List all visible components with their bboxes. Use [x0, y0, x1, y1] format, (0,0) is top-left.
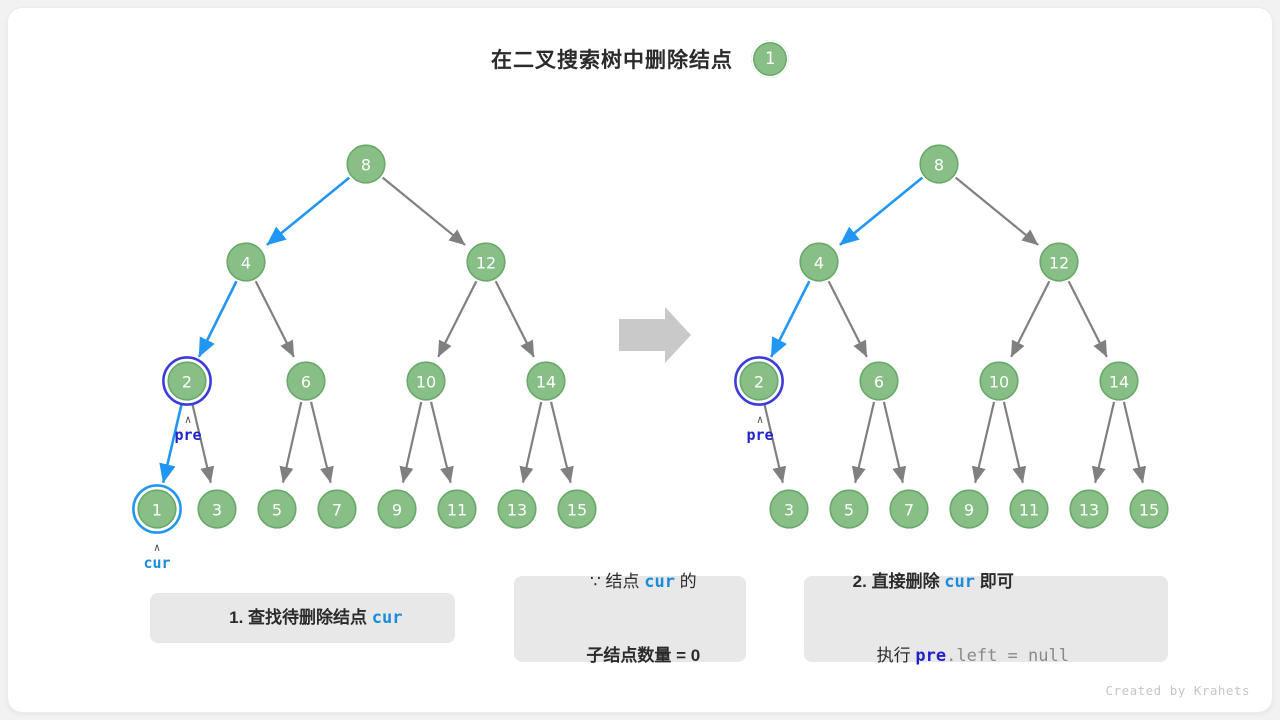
tree-node-label: 11 [447, 501, 467, 520]
tree-edge [283, 402, 301, 483]
tree-edge [383, 178, 465, 245]
diagram-canvas: 在二叉搜索树中删除结点 1 84122610141357911131584122… [8, 8, 1272, 712]
caption3-line2-prefix: 执行 [877, 646, 916, 665]
pointer-label: pre [174, 426, 201, 444]
tree-node-3[interactable]: 3 [197, 489, 237, 529]
tree-node-2[interactable]: 2 [735, 357, 782, 404]
tree-node-label: 9 [964, 501, 974, 520]
tree-node-12[interactable]: 12 [1039, 242, 1079, 282]
caption2-code-cur: cur [644, 572, 675, 592]
tree-node-15[interactable]: 15 [1129, 489, 1169, 529]
caption1-code-cur: cur [372, 608, 403, 628]
tree-node-label: 6 [301, 373, 311, 392]
tree-node-10[interactable]: 10 [979, 361, 1019, 401]
caption2-line2: 子结点数量 = 0 [586, 646, 700, 665]
tree-node-label: 5 [272, 501, 282, 520]
tree-node-label: 2 [754, 373, 764, 392]
tree-node-label: 4 [241, 254, 251, 273]
tree-edge [975, 402, 994, 483]
caption3-code-cur: cur [944, 572, 975, 592]
tree-node-3[interactable]: 3 [769, 489, 809, 529]
tree-node-11[interactable]: 11 [437, 489, 477, 529]
tree-node-label: 8 [361, 156, 371, 175]
tree-edge [496, 281, 534, 357]
tree-node-4[interactable]: 4 [799, 242, 839, 282]
tree-edge [956, 178, 1038, 245]
tree-node-label: 7 [332, 501, 342, 520]
tree-node-label: 3 [212, 501, 222, 520]
caption-step-1: 1. 查找待删除结点 cur [150, 593, 455, 643]
tree-node-label: 10 [989, 373, 1009, 392]
tree-node-label: 4 [814, 254, 824, 273]
tree-node-12[interactable]: 12 [466, 242, 506, 282]
pointer-label: pre [746, 426, 773, 444]
tree-node-10[interactable]: 10 [406, 361, 446, 401]
tree-node-11[interactable]: 11 [1009, 489, 1049, 529]
tree-node-9[interactable]: 9 [377, 489, 417, 529]
right-block-arrow [619, 307, 691, 363]
caption2-line1-prefix: ∵ 结点 [590, 572, 644, 591]
tree-edge [1004, 402, 1023, 483]
tree-edge [256, 281, 294, 357]
tree-edge [523, 402, 541, 483]
tree-node-14[interactable]: 14 [1099, 361, 1139, 401]
tree-node-5[interactable]: 5 [257, 489, 297, 529]
tree-node-label: 1 [152, 501, 162, 520]
caption3-line1-prefix: 2. 直接删除 [853, 572, 945, 591]
tree-node-7[interactable]: 7 [317, 489, 357, 529]
tree-node-1[interactable]: 1 [133, 485, 180, 532]
tree-node-label: 2 [182, 373, 192, 392]
caption-step-2: 2. 直接删除 cur 即可 执行 pre.left = null [804, 576, 1168, 662]
tree-node-5[interactable]: 5 [829, 489, 869, 529]
tree-node-label: 5 [844, 501, 854, 520]
tree-node-label: 9 [392, 501, 402, 520]
pointer-caret-icon: ∧ [757, 413, 764, 426]
caption3-line1-suffix: 即可 [975, 572, 1014, 591]
tree-node-label: 13 [1079, 501, 1099, 520]
tree-node-label: 15 [567, 501, 587, 520]
tree-node-2[interactable]: 2 [163, 357, 210, 404]
caption-reason: ∵ 结点 cur 的 子结点数量 = 0 [514, 576, 746, 662]
tree-edge [267, 178, 349, 245]
tree-edge [840, 178, 922, 245]
tree-node-label: 3 [784, 501, 794, 520]
tree-node-label: 12 [1049, 254, 1069, 273]
caption2-line1-suffix: 的 [675, 572, 697, 591]
tree-edge [551, 402, 571, 483]
tree-edge [1095, 402, 1114, 483]
tree-node-7[interactable]: 7 [889, 489, 929, 529]
tree-node-label: 14 [1109, 373, 1129, 392]
tree-edge [829, 281, 867, 357]
tree-edge [311, 402, 331, 483]
caption1-text: 1. 查找待删除结点 [229, 608, 372, 627]
tree-node-9[interactable]: 9 [949, 489, 989, 529]
tree-node-label: 6 [874, 373, 884, 392]
tree-node-8[interactable]: 8 [346, 144, 386, 184]
tree-node-label: 8 [934, 156, 944, 175]
footer-credit: Created by Krahets [1106, 683, 1250, 698]
tree-edge [199, 281, 236, 357]
tree-edge [431, 402, 451, 483]
tree-node-label: 11 [1019, 501, 1039, 520]
tree-edge [1124, 402, 1143, 483]
pointer-caret-icon: ∧ [154, 541, 161, 554]
tree-edge [403, 402, 421, 483]
tree-node-label: 14 [536, 373, 556, 392]
pointer-caret-icon: ∧ [185, 413, 192, 426]
tree-edge [884, 402, 903, 483]
caption3-code-pre: pre [915, 646, 946, 666]
caption3-line2-rest: .left = null [946, 646, 1069, 666]
tree-node-label: 15 [1139, 501, 1159, 520]
tree-node-label: 12 [476, 254, 496, 273]
tree-edge [438, 281, 476, 357]
tree-node-4[interactable]: 4 [226, 242, 266, 282]
tree-edge [771, 281, 809, 357]
tree-node-label: 10 [416, 373, 436, 392]
tree-node-13[interactable]: 13 [497, 489, 537, 529]
tree-edge [1011, 281, 1049, 357]
pointer-cur: ∧cur [143, 541, 170, 572]
tree-node-8[interactable]: 8 [919, 144, 959, 184]
pointer-pre: ∧pre [746, 413, 773, 444]
tree-node-6[interactable]: 6 [286, 361, 326, 401]
tree-node-13[interactable]: 13 [1069, 489, 1109, 529]
tree-edge [855, 402, 874, 483]
tree-edge [1069, 281, 1107, 357]
pointer-label: cur [143, 554, 170, 572]
tree-node-label: 13 [507, 501, 527, 520]
tree-node-6[interactable]: 6 [859, 361, 899, 401]
tree-node-label: 7 [904, 501, 914, 520]
tree-node-14[interactable]: 14 [526, 361, 566, 401]
tree-node-15[interactable]: 15 [557, 489, 597, 529]
